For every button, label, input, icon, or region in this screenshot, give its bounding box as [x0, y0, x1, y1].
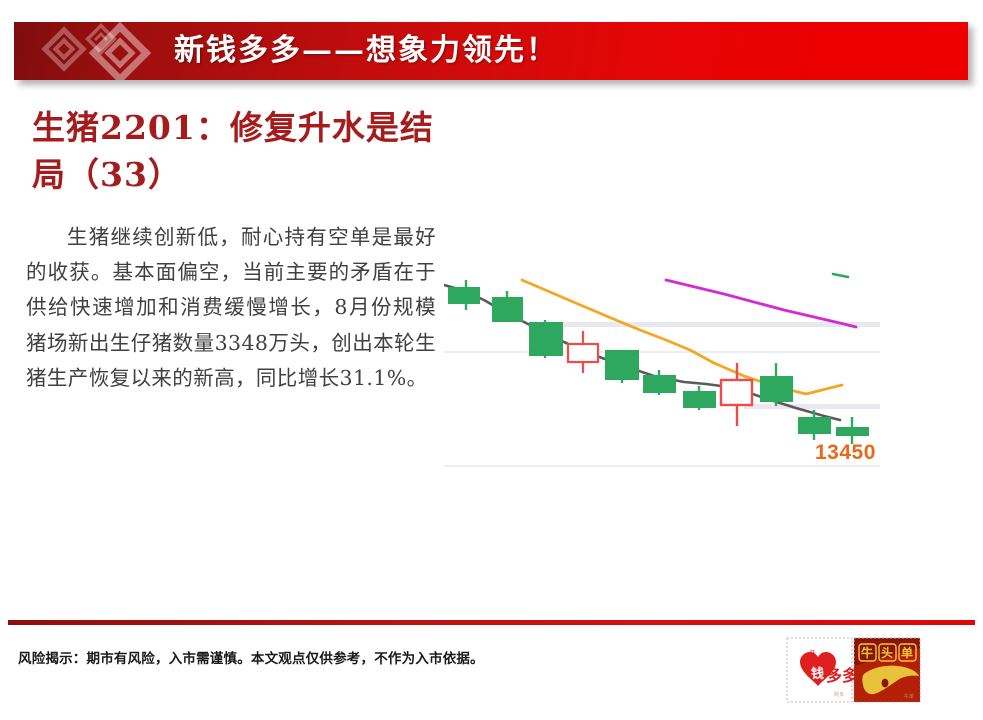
- candle-up: [683, 386, 716, 410]
- body-paragraph: 生猪继续创新低，耐心持有空单是最好的收获。基本面偏空，当前主要的矛盾在于供给快速…: [26, 220, 436, 396]
- svg-text:单: 单: [901, 645, 913, 660]
- footer-divider: [8, 620, 975, 625]
- candle-up: [448, 280, 480, 310]
- candle-up: [836, 417, 869, 444]
- svg-text:钱: 钱: [811, 666, 824, 682]
- svg-text:财: 财: [810, 649, 815, 656]
- candle-up: [760, 363, 793, 406]
- candle-up: [529, 320, 563, 358]
- candle-series: [448, 280, 869, 444]
- candle-up: [798, 410, 831, 440]
- footer-logo: 钱 多多 财 财多 牛 头 单 牛单: [786, 636, 922, 710]
- ma-line-green-stub: [833, 274, 848, 277]
- candle-down: [568, 331, 598, 373]
- page-title: 生猪2201：修复升水是结局（33）: [32, 104, 452, 198]
- svg-text:牛: 牛: [861, 645, 873, 660]
- header-banner: 新钱多多——想象力领先！: [14, 22, 968, 80]
- svg-text:牛单: 牛单: [904, 693, 914, 700]
- svg-text:头: 头: [881, 645, 893, 660]
- candle-down: [721, 363, 752, 426]
- candle-up: [605, 350, 639, 383]
- header-title: 新钱多多——想象力领先！: [174, 28, 558, 74]
- svg-text:财多: 财多: [834, 691, 844, 698]
- footer-disclaimer: 风险揭示：期市有风险，入市需谨慎。本文观点仅供参考，不作为入市依据。: [18, 647, 484, 667]
- chart-last-price-label: 13450: [815, 441, 876, 465]
- svg-text:多多: 多多: [826, 666, 858, 685]
- ma-line-magenta: [666, 280, 856, 327]
- bull-head-icon: 牛 头 单 牛单: [854, 638, 920, 702]
- heart-stamp-icon: 钱 多多 财 财多: [787, 638, 858, 702]
- candle-up: [492, 291, 523, 322]
- diamond-lattice-emblem-icon: [32, 22, 162, 80]
- ma-line-orange: [522, 280, 842, 394]
